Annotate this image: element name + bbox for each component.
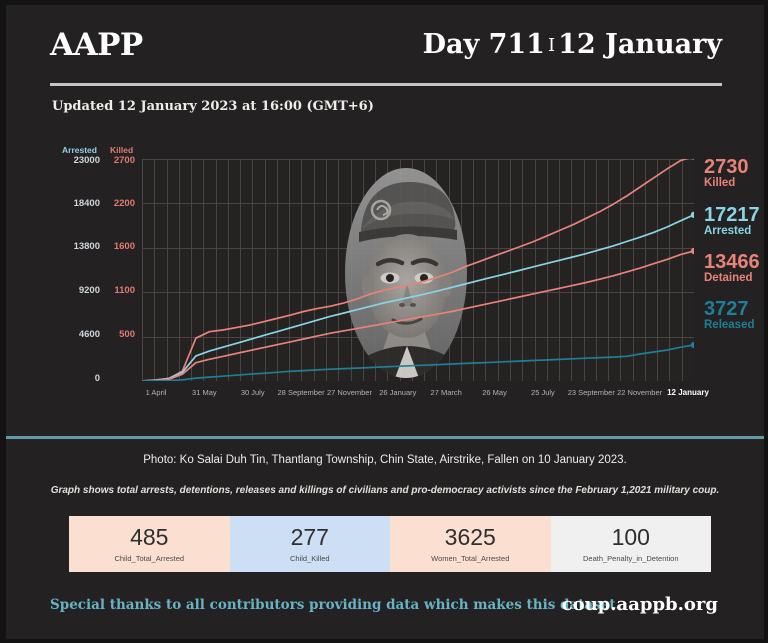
endpoint-label-released: 3727 Released <box>704 300 755 332</box>
title-separator: I <box>545 35 558 56</box>
header-date-label: 12 January <box>558 29 722 60</box>
endpoint-dot-killed <box>691 159 694 160</box>
stat-card-value: 3625 <box>445 525 496 550</box>
endpoint-dot-arrested <box>691 212 694 218</box>
stat-card-value: 485 <box>130 525 168 550</box>
ytick-arrested-9200: 9200 <box>50 285 100 296</box>
line-killed <box>142 159 694 381</box>
stat-card-label: Women_Total_Arrested <box>431 554 509 563</box>
updated-timestamp: Updated 12 January 2023 at 16:00 (GMT+6) <box>52 99 374 114</box>
series-lines <box>142 159 694 381</box>
website-link[interactable]: coup.aappb.org <box>562 594 718 615</box>
ytick-killed-2200: 2200 <box>105 198 135 209</box>
day-date-title: Day 711I12 January <box>423 29 722 60</box>
ytick-arrested-23000: 23000 <box>50 155 100 166</box>
killed-caption: Killed <box>704 177 749 190</box>
stat-card-label: Child_Total_Arrested <box>114 554 184 563</box>
stat-card-value: 100 <box>612 525 650 550</box>
xtick-label: 30 July <box>241 388 265 397</box>
stat-card: 100Death_Penalty_in_Detention <box>551 516 712 572</box>
stat-card-label: Death_Penalty_in_Detention <box>583 554 679 563</box>
ytick-arrested-4600: 4600 <box>50 329 100 340</box>
ytick-arrested-13800: 13800 <box>50 241 100 252</box>
chart: Arrested Killed 23000 18400 13800 9200 4… <box>50 145 730 415</box>
day-count-label: Day 711 <box>423 29 545 60</box>
thanks-text: Special thanks to all contributors provi… <box>50 597 620 613</box>
xtick-label: 28 September <box>278 388 325 397</box>
photo-credit: Photo: Ko Salai Duh Tin, Thantlang Towns… <box>6 454 764 466</box>
released-caption: Released <box>704 319 755 332</box>
ytick-killed-500: 500 <box>105 329 135 340</box>
stat-card: 485Child_Total_Arrested <box>69 516 230 572</box>
stats-card-row: 485Child_Total_Arrested277Child_Killed36… <box>69 516 711 572</box>
killed-value: 2730 <box>704 158 749 177</box>
detained-value: 13466 <box>704 253 760 272</box>
xtick-label: 27 November <box>327 388 372 397</box>
ytick-killed-2700: 2700 <box>105 155 135 166</box>
released-value: 3727 <box>704 300 755 319</box>
ytick-arrested-18400: 18400 <box>50 198 100 209</box>
stat-card: 277Child_Killed <box>230 516 391 572</box>
stat-card-value: 277 <box>291 525 329 550</box>
stat-card: 3625Women_Total_Arrested <box>390 516 551 572</box>
xtick-label: 12 January <box>667 388 709 397</box>
ytick-killed-1600: 1600 <box>105 241 135 252</box>
xtick-label: 26 May <box>482 388 507 397</box>
xtick-label: 22 November <box>617 388 662 397</box>
xtick-label: 31 May <box>192 388 217 397</box>
header-divider <box>50 83 722 86</box>
section-divider <box>6 436 764 439</box>
xtick-label: 1 April <box>146 388 167 397</box>
xtick-label: 23 September <box>568 388 615 397</box>
aapp-infographic-poster: AAPP Day 711I12 January Updated 12 Janua… <box>0 0 768 643</box>
xtick-label: 26 January <box>379 388 416 397</box>
endpoint-dot-detained <box>691 248 694 254</box>
line-released <box>142 345 694 381</box>
endpoint-label-detained: 13466 Detained <box>704 253 760 285</box>
header: AAPP Day 711I12 January <box>50 27 722 89</box>
ytick-killed-1100: 1100 <box>105 285 135 296</box>
plot-area <box>142 159 694 381</box>
axis-title-arrested: Arrested <box>62 145 97 155</box>
arrested-caption: Arrested <box>704 225 760 238</box>
line-detained <box>142 251 694 381</box>
graph-note: Graph shows total arrests, detentions, r… <box>6 485 764 496</box>
endpoint-label-killed: 2730 Killed <box>704 158 749 190</box>
endpoint-label-arrested: 17217 Arrested <box>704 206 760 238</box>
axis-title-killed: Killed <box>110 145 133 155</box>
endpoint-dot-released <box>691 342 694 348</box>
ytick-arrested-0: 0 <box>50 373 100 384</box>
arrested-value: 17217 <box>704 206 760 225</box>
xtick-label: 25 July <box>531 388 555 397</box>
stat-card-label: Child_Killed <box>290 554 330 563</box>
xtick-label: 27 March <box>431 388 462 397</box>
brand-title: AAPP <box>50 27 143 63</box>
detained-caption: Detained <box>704 272 760 285</box>
